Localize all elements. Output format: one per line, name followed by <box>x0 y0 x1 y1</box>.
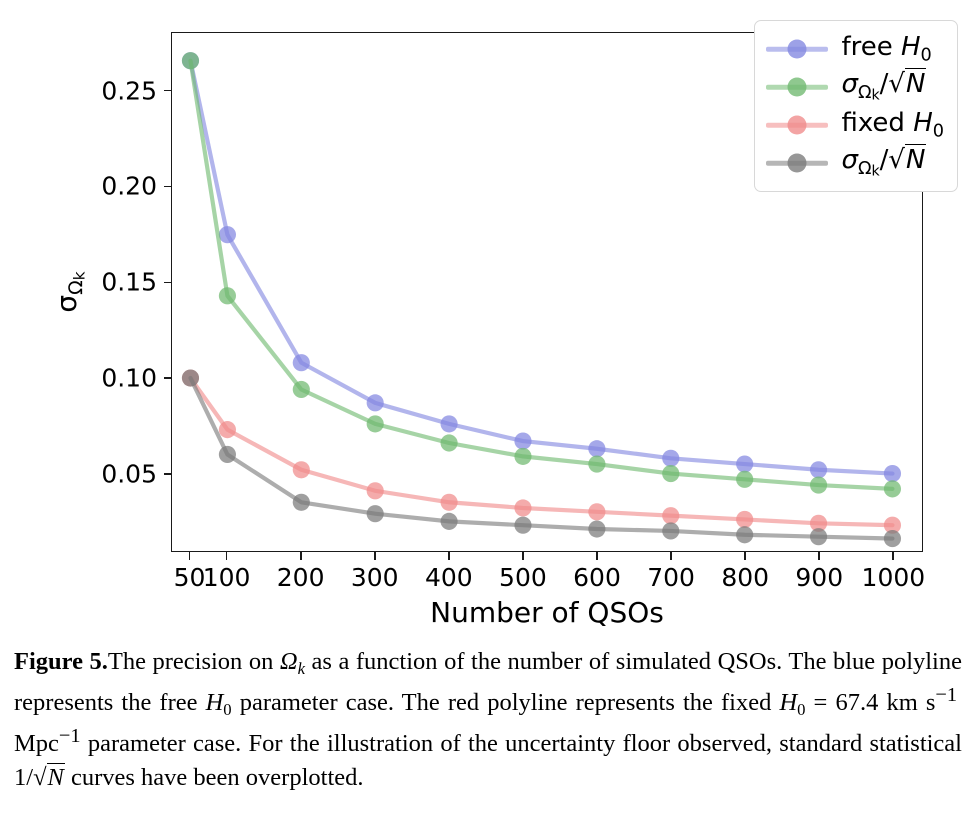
x-tick-label: 800 <box>721 563 769 592</box>
data-point <box>588 455 605 472</box>
data-point <box>293 354 310 371</box>
x-tick-label: 500 <box>499 563 547 592</box>
x-tick-mark <box>596 552 598 560</box>
data-point <box>514 499 531 516</box>
x-tick-mark <box>818 552 820 560</box>
y-tick-label: 0.05 <box>101 460 157 489</box>
figure-caption-label: Figure 5. <box>14 648 108 675</box>
data-point <box>884 530 901 547</box>
data-point <box>293 461 310 478</box>
x-tick-label: 700 <box>647 563 695 592</box>
data-point <box>588 520 605 537</box>
data-point <box>367 415 384 432</box>
x-tick-label: 100 <box>203 563 251 592</box>
data-point <box>514 517 531 534</box>
legend-swatch <box>766 76 828 98</box>
series-2 <box>182 369 901 533</box>
legend-item-3[interactable]: σΩk/√N <box>766 144 944 182</box>
data-point <box>219 226 236 243</box>
legend-swatch <box>766 152 828 174</box>
x-tick-label: 50 <box>174 563 206 592</box>
caption-h0-value: = 67.4 <box>805 689 878 716</box>
x-tick-label: 200 <box>277 563 325 592</box>
figure-caption: Figure 5.The precision on Ωk as a functi… <box>14 645 962 795</box>
data-point <box>182 52 199 69</box>
data-point <box>441 494 458 511</box>
legend-marker-dot <box>788 116 807 135</box>
data-point <box>810 476 827 493</box>
data-point <box>293 381 310 398</box>
caption-omega-k: Ωk <box>280 648 305 675</box>
legend-swatch <box>766 38 828 60</box>
legend-marker-dot <box>788 154 807 173</box>
x-tick-mark <box>448 552 450 560</box>
legend-marker-dot <box>788 78 807 97</box>
figure-5: 0.050.100.150.200.25 σΩk free H0σΩk/√Nfi… <box>0 0 976 824</box>
data-point <box>736 455 753 472</box>
data-point <box>514 433 531 450</box>
caption-text-5: curves have been overplotted. <box>65 764 364 791</box>
data-point <box>367 505 384 522</box>
legend: free H0σΩk/√Nfixed H0σΩk/√N <box>754 20 958 192</box>
x-tick-mark <box>189 552 191 560</box>
data-point <box>736 511 753 528</box>
caption-h0-a: H0 <box>206 689 232 716</box>
data-point <box>810 461 827 478</box>
data-point <box>662 450 679 467</box>
data-point <box>219 287 236 304</box>
data-point <box>441 415 458 432</box>
caption-text-3: parameter case. The red polyline represe… <box>232 689 780 716</box>
x-tick-mark <box>300 552 302 560</box>
legend-label: σΩk/√N <box>841 71 926 102</box>
y-tick-label: 0.15 <box>101 268 157 297</box>
data-point <box>441 434 458 451</box>
y-axis-title: σΩk <box>46 32 92 552</box>
data-point <box>182 369 199 386</box>
data-point <box>219 421 236 438</box>
legend-marker-dot <box>788 40 807 59</box>
caption-h0-b: H0 <box>779 689 805 716</box>
x-tick-mark <box>226 552 228 560</box>
data-point <box>736 471 753 488</box>
data-point <box>219 446 236 463</box>
data-point <box>662 522 679 539</box>
caption-text-1: The precision on <box>108 648 280 675</box>
data-point <box>662 507 679 524</box>
x-tick-mark <box>522 552 524 560</box>
x-tick-label: 400 <box>425 563 473 592</box>
data-point <box>662 465 679 482</box>
data-point <box>588 503 605 520</box>
x-axis-title: Number of QSOs <box>171 596 923 629</box>
legend-item-0[interactable]: free H0 <box>766 30 944 68</box>
data-point <box>884 465 901 482</box>
legend-label: fixed H0 <box>841 110 944 141</box>
x-tick-mark <box>744 552 746 560</box>
x-tick-label: 300 <box>351 563 399 592</box>
x-tick-label: 900 <box>795 563 843 592</box>
y-axis-title-sigma: σΩk <box>50 271 88 312</box>
y-tick-label: 0.10 <box>101 364 157 393</box>
legend-label: σΩk/√N <box>841 147 926 178</box>
x-tick-mark <box>670 552 672 560</box>
y-tick-label: 0.25 <box>101 76 157 105</box>
data-point <box>441 513 458 530</box>
legend-item-1[interactable]: σΩk/√N <box>766 68 944 106</box>
data-point <box>884 480 901 497</box>
x-tick-mark <box>374 552 376 560</box>
legend-item-2[interactable]: fixed H0 <box>766 106 944 144</box>
data-point <box>367 482 384 499</box>
data-point <box>293 494 310 511</box>
x-tick-label: 1000 <box>862 563 926 592</box>
data-point <box>736 526 753 543</box>
x-axis-tick-labels: 501002003004005006007008009001000 <box>171 563 923 597</box>
legend-swatch <box>766 114 828 136</box>
caption-sqrt-n: √N <box>33 763 65 791</box>
data-point <box>514 448 531 465</box>
data-point <box>810 528 827 545</box>
data-point <box>367 394 384 411</box>
y-tick-label: 0.20 <box>101 172 157 201</box>
x-tick-label: 600 <box>573 563 621 592</box>
x-tick-mark <box>892 552 894 560</box>
data-point <box>588 440 605 457</box>
y-axis-title-subscript: Ωk <box>65 271 87 294</box>
legend-label: free H0 <box>841 34 931 65</box>
